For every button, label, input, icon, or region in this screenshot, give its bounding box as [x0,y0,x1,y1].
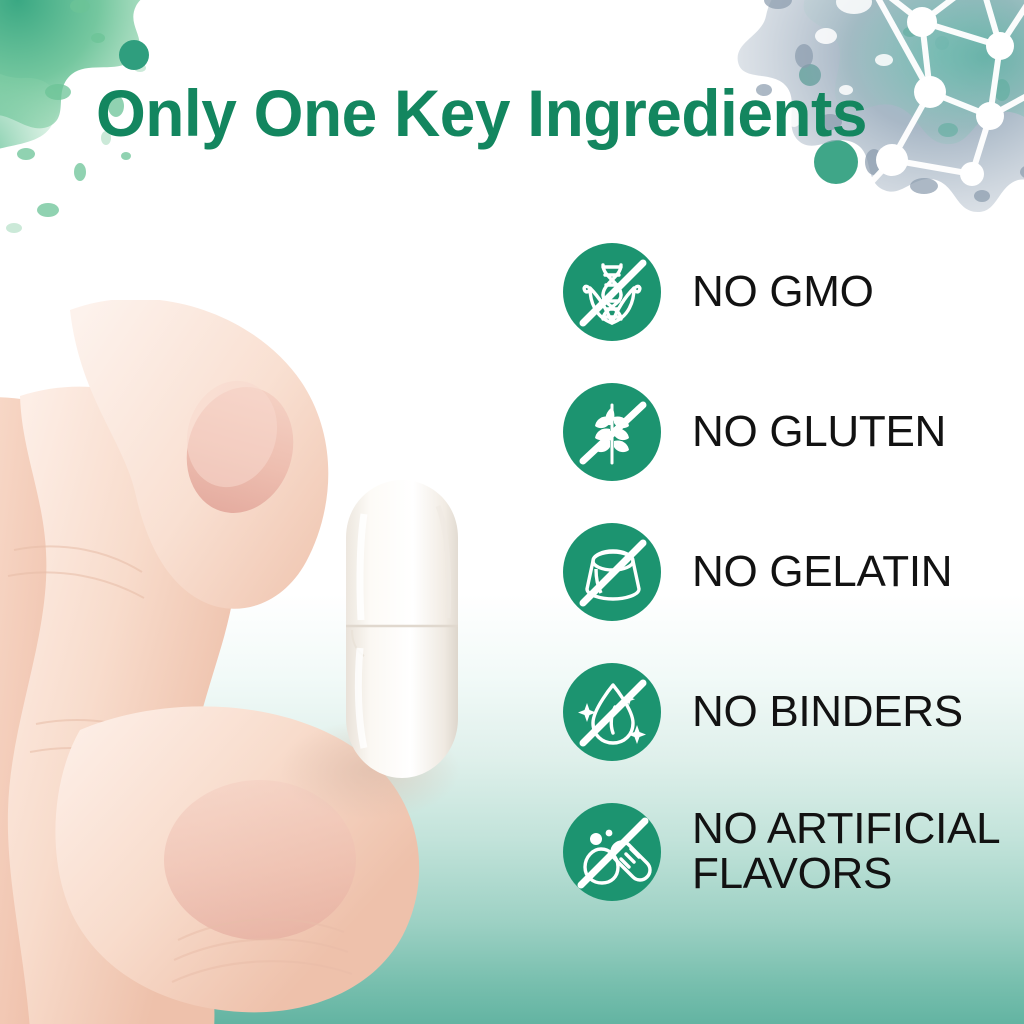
claim-item-no-artificial-flavors: NO ARTIFICIAL FLAVORS [563,803,1003,901]
claim-item-no-gluten: NO GLUTEN [563,383,1003,481]
no-gelatin-badge [563,523,661,621]
claim-label-no-binders: NO BINDERS [692,690,963,735]
claim-item-no-binders: NO BINDERS [563,663,1003,761]
gelatin-mold-slash-icon [563,523,661,621]
no-artificial-flavors-badge [563,803,661,901]
claim-item-no-gelatin: NO GELATIN [563,523,1003,621]
no-gmo-badge [563,243,661,341]
claims-list: NO GMO [563,243,1003,901]
claim-label-no-gluten: NO GLUTEN [692,410,946,455]
page-title: Only One Key Ingredients [96,80,930,146]
no-binders-badge [563,663,661,761]
claim-label-no-gmo: NO GMO [692,270,874,315]
claim-label-no-gelatin: NO GELATIN [692,550,952,595]
dna-leaf-slash-icon [563,243,661,341]
wheat-slash-icon [563,383,661,481]
droplet-sparkle-slash-icon [563,663,661,761]
flask-dropper-slash-icon [563,803,661,901]
claim-label-no-artificial-flavors: NO ARTIFICIAL FLAVORS [692,807,1000,897]
claim-item-no-gmo: NO GMO [563,243,1003,341]
no-gluten-badge [563,383,661,481]
product-claims-poster: Only One Key Ingredients [0,0,1024,1024]
